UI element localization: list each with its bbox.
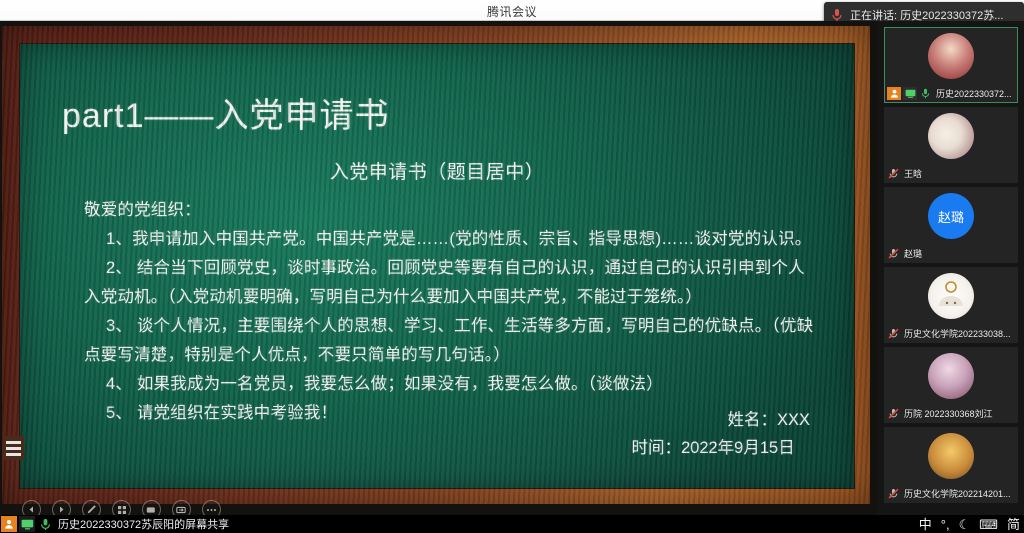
avatar: 赵璐 bbox=[928, 193, 974, 239]
signature-name: 姓名：XXX bbox=[631, 406, 810, 434]
microphone-muted-icon bbox=[887, 247, 900, 260]
participant-name: 赵璐 bbox=[902, 247, 922, 260]
avatar-initial: 赵璐 bbox=[938, 207, 964, 226]
shared-screen-area[interactable]: part1——入党申请书 入党申请书（题目居中） 敬爱的党组织： 1、我申请加入… bbox=[0, 21, 878, 533]
ime-moon-icon[interactable]: ☾ bbox=[959, 518, 971, 531]
participant-tile[interactable]: 赵璐 赵璐 bbox=[884, 187, 1018, 263]
slide-paragraph-2: 2、 结合当下回顾党史，谈时事政治。回顾党史等要有自己的认识，通过自己的认识引申… bbox=[84, 254, 820, 312]
slide-body: 敬爱的党组织： 1、我申请加入中国共产党。中国共产党是……(党的性质、宗旨、指导… bbox=[84, 196, 820, 428]
ime-punctuation-toggle[interactable]: °, bbox=[941, 518, 950, 531]
ime-toolbar[interactable]: 中 °, ☾ ⌨ 简 bbox=[919, 515, 1020, 533]
participant-status-bar: 历史2022330372... bbox=[884, 86, 1018, 101]
chalkboard-frame: part1——入党申请书 入党申请书（题目居中） 敬爱的党组织： 1、我申请加入… bbox=[2, 26, 870, 504]
avatar bbox=[928, 113, 974, 159]
microphone-muted-icon bbox=[887, 407, 900, 420]
slide-paragraph-4: 4、 如果我成为一名党员，我要怎么做；如果没有，我要怎么做。（谈做法） bbox=[84, 370, 820, 399]
taskbar-label: 历史2022330372苏辰阳的屏幕共享 bbox=[53, 516, 229, 532]
ime-keyboard-icon[interactable]: ⌨ bbox=[979, 518, 998, 531]
microphone-muted-icon bbox=[887, 487, 900, 500]
participant-status-bar: 历院 2022330368刘江 bbox=[884, 406, 1018, 421]
slide-signature: 姓名：XXX 时间：2022年9月15日 bbox=[631, 406, 810, 462]
list-menu-icon[interactable] bbox=[3, 436, 24, 460]
slide-paragraph-0: 敬爱的党组织： bbox=[84, 196, 820, 225]
participant-status-bar: 历史文化学院202214201... bbox=[884, 486, 1018, 501]
slide-paragraph-3: 3、 谈个人情况，主要围绕个人的思想、学习、工作、生活等多方面，写明自己的优缺点… bbox=[84, 312, 820, 370]
participant-tile[interactable]: 历史文化学院202214201... bbox=[884, 427, 1018, 503]
taskbar-icons bbox=[0, 516, 53, 532]
microphone-icon bbox=[919, 87, 932, 100]
participant-name: 历史2022330372... bbox=[934, 87, 1012, 100]
screen-share-icon bbox=[19, 516, 35, 532]
meeting-window: 腾讯会议 正在讲话: 历史2022330372苏... part1——入党申请书… bbox=[0, 0, 1024, 533]
host-badge-icon bbox=[887, 87, 901, 100]
participant-status-bar: 赵璐 bbox=[884, 246, 1018, 261]
avatar bbox=[928, 33, 974, 79]
participant-sidebar[interactable]: 历史2022330372... 王晗 赵璐 赵璐 bbox=[878, 21, 1024, 533]
slide-paragraph-1: 1、我申请加入中国共产党。中国共产党是……(党的性质、宗旨、指导思想)……谈对党… bbox=[84, 225, 820, 254]
microphone-muted-icon bbox=[887, 327, 900, 340]
participant-tile[interactable]: 历史2022330372... bbox=[884, 27, 1018, 103]
taskbar[interactable]: 历史2022330372苏辰阳的屏幕共享 中 °, ☾ ⌨ 简 bbox=[0, 515, 1024, 533]
slide-subtitle: 入党申请书（题目居中） bbox=[20, 157, 854, 184]
chalkboard-slide: part1——入党申请书 入党申请书（题目居中） 敬爱的党组织： 1、我申请加入… bbox=[20, 44, 854, 488]
participant-name: 历院 2022330368刘江 bbox=[902, 407, 993, 420]
participant-name: 历史文化学院202233038... bbox=[902, 327, 1011, 340]
screen-share-icon bbox=[903, 87, 917, 100]
participant-tile[interactable]: 历院 2022330368刘江 bbox=[884, 347, 1018, 423]
avatar bbox=[928, 433, 974, 479]
participant-status-bar: 王晗 bbox=[884, 166, 1018, 181]
host-badge-icon bbox=[1, 516, 17, 532]
microphone-icon bbox=[37, 516, 53, 532]
ime-simplified-toggle[interactable]: 简 bbox=[1007, 518, 1020, 531]
ime-language-toggle[interactable]: 中 bbox=[919, 518, 932, 531]
avatar bbox=[928, 273, 974, 319]
participant-tile[interactable]: 王晗 bbox=[884, 107, 1018, 183]
participant-name: 历史文化学院202214201... bbox=[902, 487, 1011, 500]
participant-status-bar: 历史文化学院202233038... bbox=[884, 326, 1018, 341]
signature-date: 时间：2022年9月15日 bbox=[631, 434, 810, 462]
slide-title: part1——入党申请书 bbox=[62, 88, 390, 137]
participant-tile[interactable]: 历史文化学院202233038... bbox=[884, 267, 1018, 343]
participant-name: 王晗 bbox=[902, 167, 922, 180]
avatar bbox=[928, 353, 974, 399]
microphone-muted-icon bbox=[887, 167, 900, 180]
